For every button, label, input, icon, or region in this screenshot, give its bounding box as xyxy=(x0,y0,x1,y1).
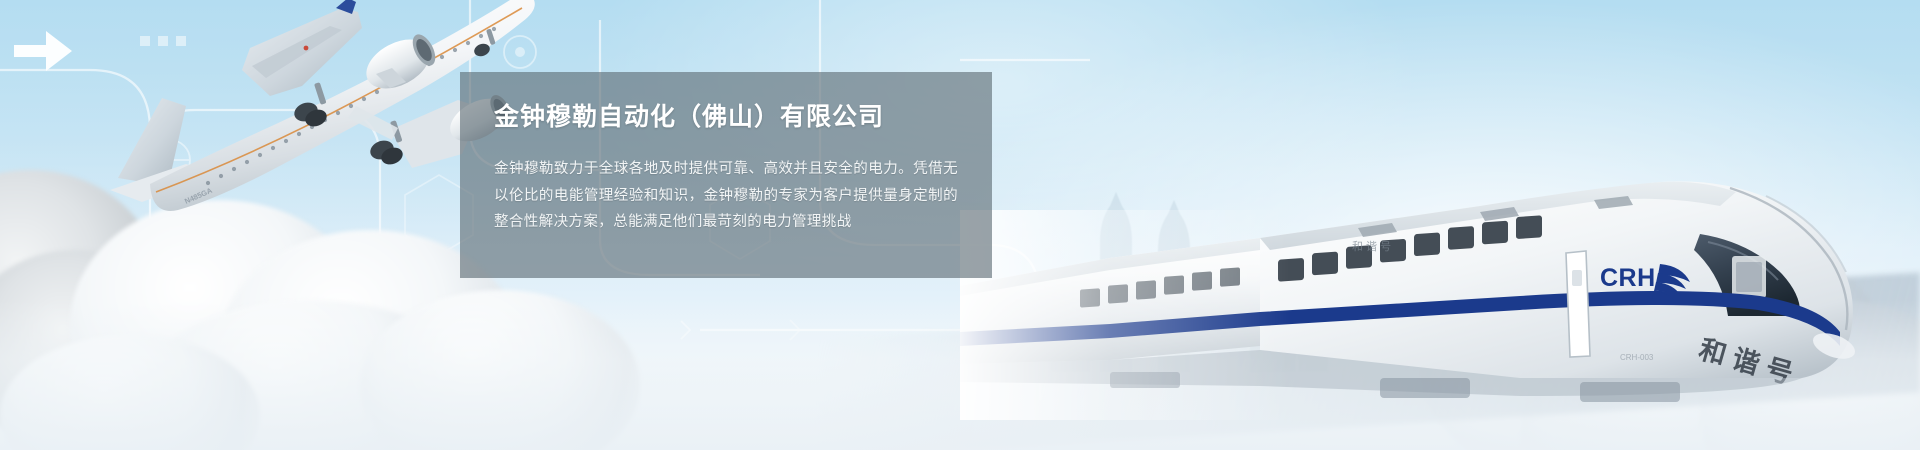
svg-text:CRH: CRH xyxy=(1600,264,1656,292)
cloud-cluster-right xyxy=(1400,240,1920,450)
crh-train-image: CRH 和 谐 号 CRH-003 和 谐 号 xyxy=(960,110,1920,420)
train-carriage-marking: 和 谐 号 xyxy=(1352,239,1391,253)
city-skyline xyxy=(1040,172,1360,372)
overlay-text-panel: 金钟穆勒自动化（佛山）有限公司 金钟穆勒致力于全球各地及时提供可靠、高效并且安全… xyxy=(460,72,992,278)
svg-text:CRH-003: CRH-003 xyxy=(1620,353,1654,362)
company-title: 金钟穆勒自动化（佛山）有限公司 xyxy=(494,100,958,134)
ground-haze xyxy=(0,300,1920,450)
svg-text:和 谐 号: 和 谐 号 xyxy=(1696,334,1797,389)
crh-logo: CRH xyxy=(1600,264,1690,303)
arrow-right-icon[interactable] xyxy=(12,28,74,74)
airplane-registration: N485GA xyxy=(183,185,214,205)
company-description: 金钟穆勒致力于全球各地及时提供可靠、高效并且安全的电力。凭借无以伦比的电能管理经… xyxy=(494,156,958,236)
hero-banner: N485GA xyxy=(0,0,1920,450)
rail-track xyxy=(820,272,1920,450)
train-nose-characters: 和 谐 号 xyxy=(1696,334,1797,389)
